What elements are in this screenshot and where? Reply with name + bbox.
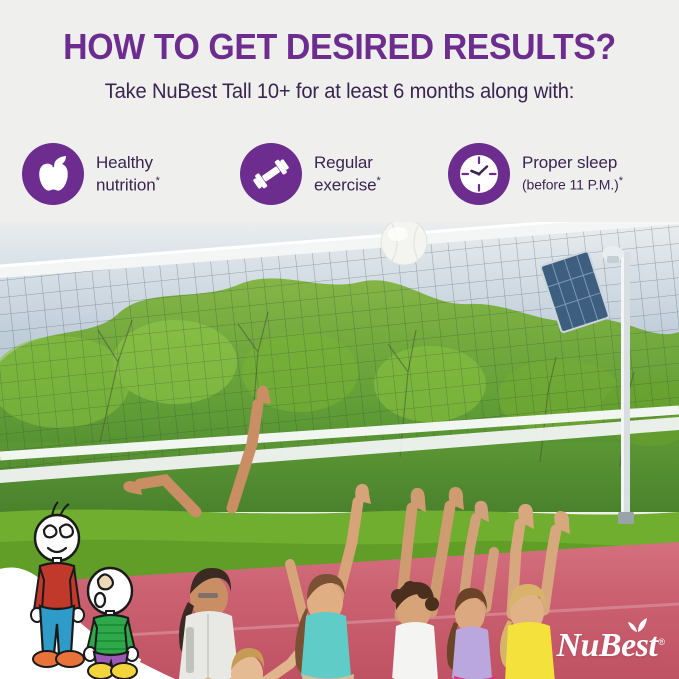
feature-icon-circle bbox=[448, 143, 510, 205]
volleyball bbox=[381, 219, 427, 265]
feature-note-text: (before 11 P.M.) bbox=[522, 177, 619, 193]
dumbbell-icon bbox=[251, 154, 291, 194]
feature-label-line1: Proper sleep bbox=[522, 153, 617, 172]
feature-label-line2: exercise bbox=[314, 176, 377, 195]
feature-icon-circle bbox=[240, 143, 302, 205]
feature-label: Regular exercise* bbox=[314, 153, 381, 195]
feature-icon-circle bbox=[22, 143, 84, 205]
leaf-sprout-icon bbox=[627, 617, 649, 633]
feature-label-note: (before 11 P.M.)* bbox=[522, 172, 623, 195]
feature-label-line2: nutrition bbox=[96, 176, 156, 195]
feature-label: Proper sleep (before 11 P.M.)* bbox=[522, 153, 623, 195]
feature-label: Healthy nutrition* bbox=[96, 153, 160, 195]
feature-label-line1: Regular bbox=[314, 153, 373, 172]
feature-proper-sleep: Proper sleep (before 11 P.M.)* bbox=[448, 138, 662, 210]
feature-asterisk: * bbox=[377, 175, 381, 187]
feature-asterisk: * bbox=[156, 175, 160, 187]
feature-healthy-nutrition: Healthy nutrition* bbox=[22, 138, 240, 210]
feature-label-line1: Healthy bbox=[96, 153, 153, 172]
page-title: HOW TO GET DESIRED RESULTS? bbox=[20, 26, 658, 68]
logo-wordmark: NuBest bbox=[556, 629, 657, 663]
mascot-kids bbox=[0, 494, 175, 679]
registered-trademark-icon: ® bbox=[658, 637, 665, 647]
promo-graphic: NuBest ® HOW TO GET DESIRED RESULTS? Tak… bbox=[0, 0, 679, 679]
clock-icon bbox=[458, 153, 500, 195]
apple-icon bbox=[35, 155, 71, 193]
feature-row: Healthy nutrition* bbox=[22, 138, 662, 218]
page-subtitle: Take NuBest Tall 10+ for at least 6 mont… bbox=[14, 80, 666, 104]
feature-regular-exercise: Regular exercise* bbox=[240, 138, 448, 210]
header-block: HOW TO GET DESIRED RESULTS? Take NuBest … bbox=[0, 0, 679, 222]
nubest-logo: NuBest ® bbox=[556, 629, 665, 663]
feature-asterisk: * bbox=[619, 175, 623, 187]
